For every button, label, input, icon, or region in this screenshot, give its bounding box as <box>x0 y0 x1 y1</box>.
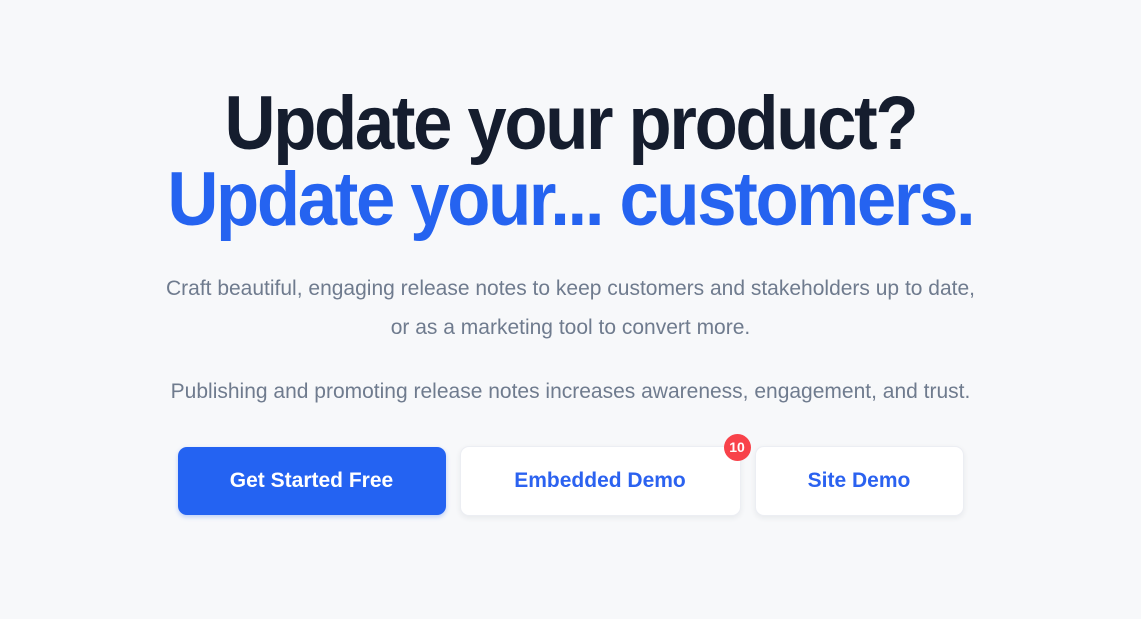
page-title: Update your product? Update your... cust… <box>137 88 1004 236</box>
get-started-free-button[interactable]: Get Started Free <box>178 447 446 515</box>
hero-subnote: Publishing and promoting release notes i… <box>76 376 1066 408</box>
cta-button-row: Get Started Free Embedded Demo 10 Site D… <box>178 446 964 516</box>
site-demo-button[interactable]: Site Demo <box>755 446 964 516</box>
embedded-demo-label: Embedded Demo <box>514 469 686 493</box>
headline-line-1: Update your product? <box>168 88 974 160</box>
headline-line-2: Update your... customers. <box>168 164 974 236</box>
site-demo-label: Site Demo <box>808 469 911 493</box>
hero-lede-line-1: Craft beautiful, engaging release notes … <box>76 270 1066 309</box>
hero-section: Update your product? Update your... cust… <box>0 0 1141 619</box>
hero-lede: Craft beautiful, engaging release notes … <box>76 270 1066 348</box>
get-started-free-label: Get Started Free <box>230 469 393 493</box>
embedded-demo-button[interactable]: Embedded Demo 10 <box>460 446 741 516</box>
notification-count-badge: 10 <box>724 434 751 461</box>
hero-lede-line-2: or as a marketing tool to convert more. <box>76 309 1066 348</box>
